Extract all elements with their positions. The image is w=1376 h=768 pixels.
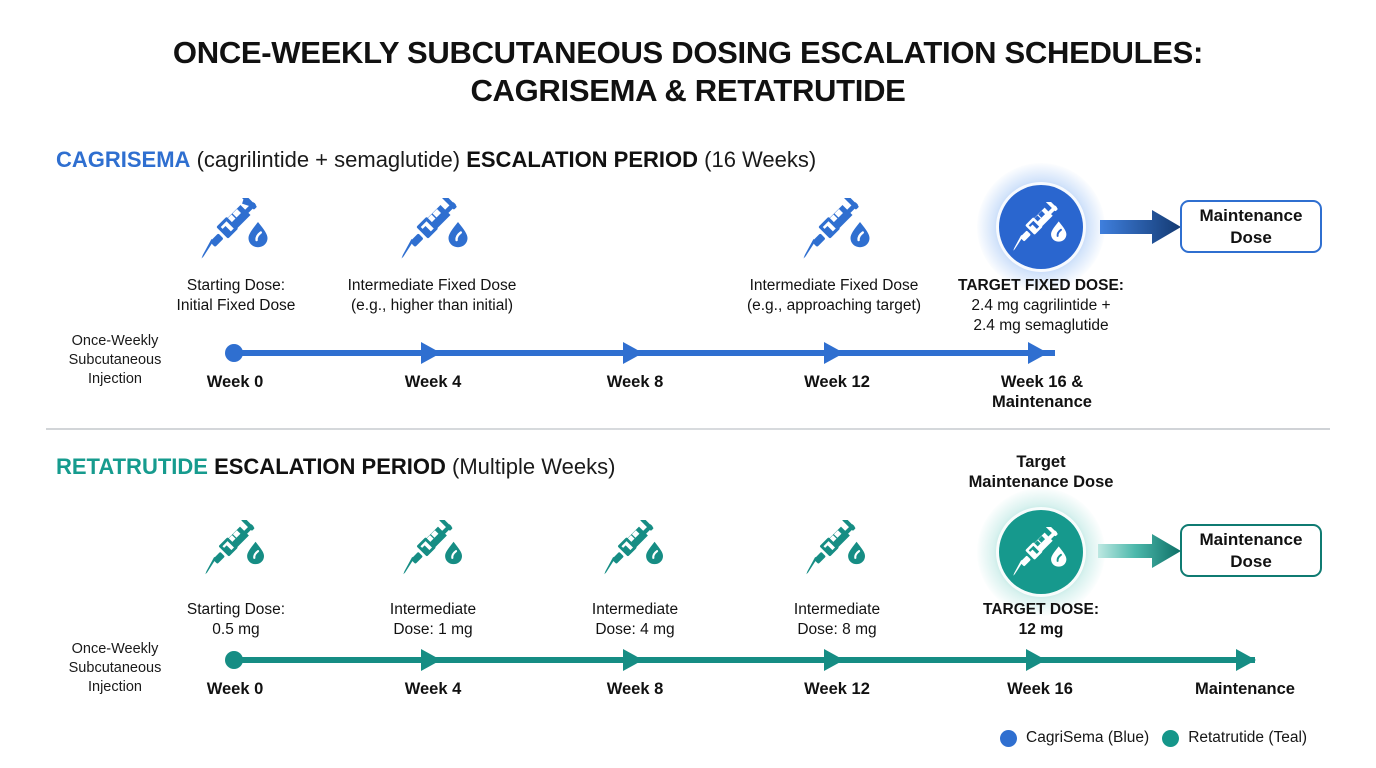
retatrutide-step-caption-0: Starting Dose: 0.5 mg — [155, 600, 317, 640]
caption-line: TARGET DOSE: — [958, 600, 1124, 620]
legend-dot-icon — [1000, 730, 1017, 747]
cagrisema-duration-label: (16 Weeks) — [698, 147, 816, 172]
axis-label-line: Subcutaneous — [40, 351, 190, 370]
legend-item-cagrisema: CagriSema (Blue) — [1000, 729, 1149, 747]
cagrisema-timeline-start-dot — [225, 344, 243, 362]
syringe-icon — [400, 198, 472, 260]
caption-line: Dose: 1 mg — [352, 620, 514, 640]
syringe-icon — [402, 520, 466, 576]
cagrisema-week-label-0: Week 0 — [174, 372, 296, 392]
retatrutide-step-caption-1: Intermediate Dose: 1 mg — [352, 600, 514, 640]
legend: CagriSema (Blue) Retatrutide (Teal) — [1000, 729, 1307, 747]
page-title: ONCE-WEEKLY SUBCUTANEOUS DOSING ESCALATI… — [0, 34, 1376, 110]
cagrisema-week-label-3: Week 12 — [776, 372, 898, 392]
cagrisema-subtitle: (cagrilintide + semaglutide) — [190, 147, 466, 172]
caption-line: 12 mg — [958, 620, 1124, 640]
cagrisema-target-dose-marker — [978, 164, 1104, 290]
syringe-icon — [204, 520, 268, 576]
caption-line: Dose: 8 mg — [756, 620, 918, 640]
retatrutide-step-caption-3: Intermediate Dose: 8 mg — [756, 600, 918, 640]
retatrutide-week-label-1: Week 4 — [372, 679, 494, 699]
cagrisema-step-caption-1: Intermediate Fixed Dose (e.g., higher th… — [306, 276, 558, 316]
axis-label-line: Subcutaneous — [40, 659, 190, 678]
maintenance-box-line-2: Dose — [1230, 228, 1272, 247]
retatrutide-brand-label: RETATRUTIDE — [56, 454, 208, 479]
caption-line: Intermediate — [756, 600, 918, 620]
legend-item-retatrutide: Retatrutide (Teal) — [1162, 729, 1307, 747]
cagrisema-period-label: ESCALATION PERIOD — [466, 147, 698, 172]
retatrutide-timeline-arrow — [1026, 649, 1046, 671]
axis-label-line: Once-Weekly — [40, 332, 190, 351]
retatrutide-section-header: RETATRUTIDE ESCALATION PERIOD (Multiple … — [56, 454, 615, 480]
caption-line: Starting Dose: — [155, 600, 317, 620]
caption-line: Intermediate — [352, 600, 514, 620]
cagrisema-timeline-arrow — [1028, 342, 1048, 364]
retatrutide-target-header: Target Maintenance Dose — [930, 452, 1152, 492]
retatrutide-axis-label: Once-Weekly Subcutaneous Injection — [40, 640, 190, 697]
retatrutide-week-label-0: Week 0 — [174, 679, 296, 699]
cagrisema-target-caption: TARGET FIXED DOSE: 2.4 mg cagrilintide +… — [930, 276, 1152, 336]
cagrisema-section-header: CAGRISEMA (cagrilintide + semaglutide) E… — [56, 147, 816, 173]
cagrisema-maintenance-dose-box[interactable]: Maintenance Dose — [1180, 200, 1322, 253]
cagrisema-timeline-arrow — [421, 342, 441, 364]
axis-label-line: Injection — [40, 678, 190, 697]
retatrutide-period-label: ESCALATION PERIOD — [208, 454, 446, 479]
target-header-line: Target — [930, 452, 1152, 472]
maintenance-box-line-2: Dose — [1230, 552, 1272, 571]
cagrisema-axis-label: Once-Weekly Subcutaneous Injection — [40, 332, 190, 389]
retatrutide-step-caption-2: Intermediate Dose: 4 mg — [554, 600, 716, 640]
cagrisema-week-label-2: Week 8 — [574, 372, 696, 392]
syringe-icon — [805, 520, 869, 576]
caption-line: Dose: 4 mg — [554, 620, 716, 640]
cagrisema-step-caption-2: Intermediate Fixed Dose (e.g., approachi… — [708, 276, 960, 316]
target-circle — [999, 510, 1083, 594]
retatrutide-timeline-start-dot — [225, 651, 243, 669]
retatrutide-week-label-maintenance: Maintenance — [1166, 679, 1324, 699]
maintenance-box-line-1: Maintenance — [1200, 206, 1303, 225]
retatrutide-maintenance-arrow-icon — [1098, 532, 1182, 575]
retatrutide-timeline-arrow — [421, 649, 441, 671]
axis-label-line: Once-Weekly — [40, 640, 190, 659]
retatrutide-timeline-axis — [231, 657, 1255, 663]
cagrisema-timeline-arrow — [623, 342, 643, 364]
legend-dot-icon — [1162, 730, 1179, 747]
retatrutide-week-label-2: Week 8 — [574, 679, 696, 699]
syringe-icon — [802, 198, 874, 260]
target-circle — [999, 185, 1083, 269]
syringe-icon — [603, 520, 667, 576]
legend-label: CagriSema (Blue) — [1026, 729, 1149, 747]
caption-line: Intermediate Fixed Dose — [306, 276, 558, 296]
caption-line: Intermediate Fixed Dose — [708, 276, 960, 296]
week-label-line: Week 16 & — [960, 372, 1124, 392]
syringe-icon — [200, 198, 272, 260]
retatrutide-target-caption: TARGET DOSE: 12 mg — [958, 600, 1124, 640]
cagrisema-brand-label: CAGRISEMA — [56, 147, 190, 172]
caption-line: 2.4 mg semaglutide — [930, 316, 1152, 336]
axis-label-line: Injection — [40, 370, 190, 389]
caption-line: Intermediate — [554, 600, 716, 620]
retatrutide-duration-label: (Multiple Weeks) — [446, 454, 616, 479]
caption-line: (e.g., approaching target) — [708, 296, 960, 316]
title-line-2: CAGRISEMA & RETATRUTIDE — [0, 72, 1376, 110]
retatrutide-timeline-arrow — [824, 649, 844, 671]
week-label-line: Maintenance — [960, 392, 1124, 412]
cagrisema-maintenance-arrow-icon — [1100, 208, 1182, 251]
caption-line: TARGET FIXED DOSE: — [930, 276, 1152, 296]
cagrisema-timeline-axis — [231, 350, 1055, 356]
retatrutide-maintenance-dose-box[interactable]: Maintenance Dose — [1180, 524, 1322, 577]
legend-label: Retatrutide (Teal) — [1188, 729, 1307, 747]
retatrutide-target-dose-marker — [978, 489, 1104, 615]
cagrisema-timeline-arrow — [824, 342, 844, 364]
retatrutide-week-label-3: Week 12 — [776, 679, 898, 699]
section-divider — [46, 428, 1330, 430]
retatrutide-week-label-4: Week 16 — [978, 679, 1102, 699]
infographic-canvas: ONCE-WEEKLY SUBCUTANEOUS DOSING ESCALATI… — [0, 0, 1376, 768]
maintenance-box-line-1: Maintenance — [1200, 530, 1303, 549]
caption-line: (e.g., higher than initial) — [306, 296, 558, 316]
retatrutide-timeline-arrow — [623, 649, 643, 671]
cagrisema-week-label-target: Week 16 & Maintenance — [960, 372, 1124, 412]
cagrisema-week-label-1: Week 4 — [372, 372, 494, 392]
caption-line: 2.4 mg cagrilintide + — [930, 296, 1152, 316]
caption-line: 0.5 mg — [155, 620, 317, 640]
title-line-1: ONCE-WEEKLY SUBCUTANEOUS DOSING ESCALATI… — [173, 35, 1203, 70]
retatrutide-timeline-arrow — [1236, 649, 1256, 671]
